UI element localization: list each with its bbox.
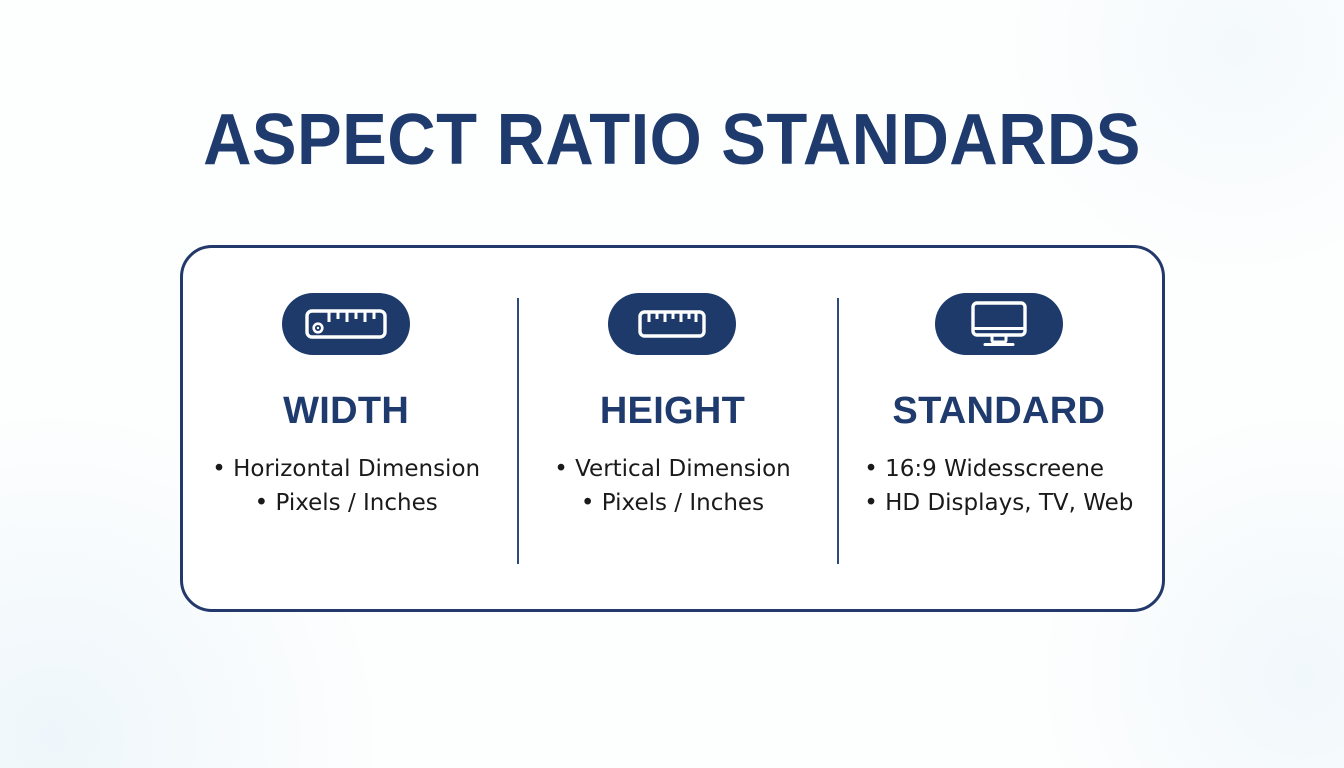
page-title: ASPECT RATIO STANDARDS [47,98,1297,182]
column-title-height: HEIGHT [600,389,745,433]
list-item: • HD Displays, TV, Web [864,489,1133,518]
list-item: • Vertical Dimension [554,455,791,484]
column-height: HEIGHT • Vertical Dimension • Pixels / I… [509,248,835,609]
list-item: • Pixels / Inches [554,489,791,518]
column-title-standard: STANDARD [892,389,1105,433]
list-item: • 16:9 Widesscreene [864,455,1133,484]
bullet-list-standard: • 16:9 Widesscreene • HD Displays, TV, W… [864,455,1133,518]
columns-container: WIDTH • Horizontal Dimension • Pixels / … [183,248,1162,609]
ruler-icon [638,310,706,338]
bullet-list-height: • Vertical Dimension • Pixels / Inches [554,455,791,518]
list-item: • Horizontal Dimension [212,455,480,484]
monitor-icon [970,301,1028,347]
column-title-width: WIDTH [283,389,409,433]
ruler-horizontal-icon [305,309,387,339]
ruler-icon-badge [608,293,736,355]
slide-root: ASPECT RATIO STANDARDS [0,0,1344,768]
column-width: WIDTH • Horizontal Dimension • Pixels / … [183,248,509,609]
column-standard: STANDARD • 16:9 Widesscreene • HD Displa… [836,248,1162,609]
list-item: • Pixels / Inches [212,489,480,518]
monitor-icon-badge [935,293,1063,355]
ruler-horizontal-icon-badge [282,293,410,355]
content-card: WIDTH • Horizontal Dimension • Pixels / … [180,245,1165,612]
bullet-list-width: • Horizontal Dimension • Pixels / Inches [212,455,480,518]
